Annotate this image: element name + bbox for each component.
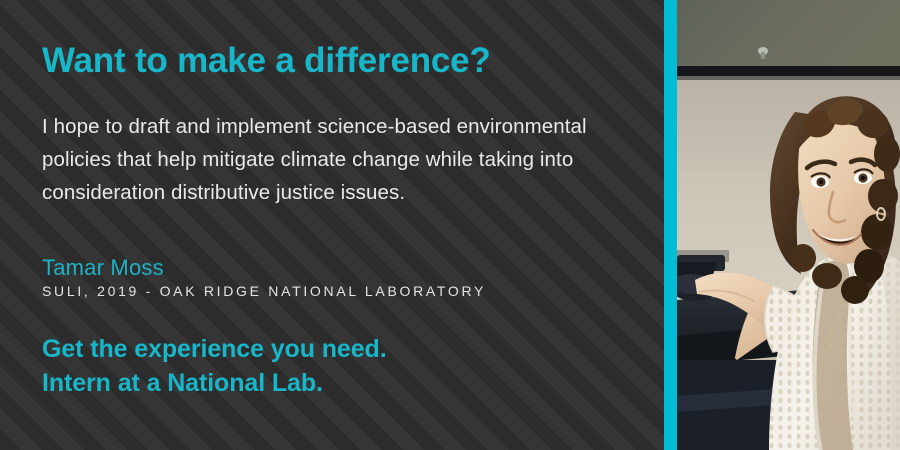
intern-name: Tamar Moss (42, 255, 486, 281)
intern-photo (677, 0, 900, 450)
cta-line-2: Intern at a National Lab. (42, 366, 387, 400)
intern-recruitment-banner: Want to make a difference? I hope to dra… (0, 0, 900, 450)
program-and-lab: SULI, 2019 - OAK RIDGE NATIONAL LABORATO… (42, 281, 486, 301)
cta-line-1: Get the experience you need. (42, 332, 387, 366)
text-content-block: Want to make a difference? I hope to dra… (42, 0, 642, 450)
attribution: Tamar Moss SULI, 2019 - OAK RIDGE NATION… (42, 255, 486, 301)
intern-photo-illustration (677, 0, 900, 450)
headline: Want to make a difference? (42, 42, 491, 81)
quote-text: I hope to draft and implement science-ba… (42, 110, 587, 209)
teal-vertical-divider (664, 0, 677, 450)
call-to-action: Get the experience you need. Intern at a… (42, 332, 387, 400)
